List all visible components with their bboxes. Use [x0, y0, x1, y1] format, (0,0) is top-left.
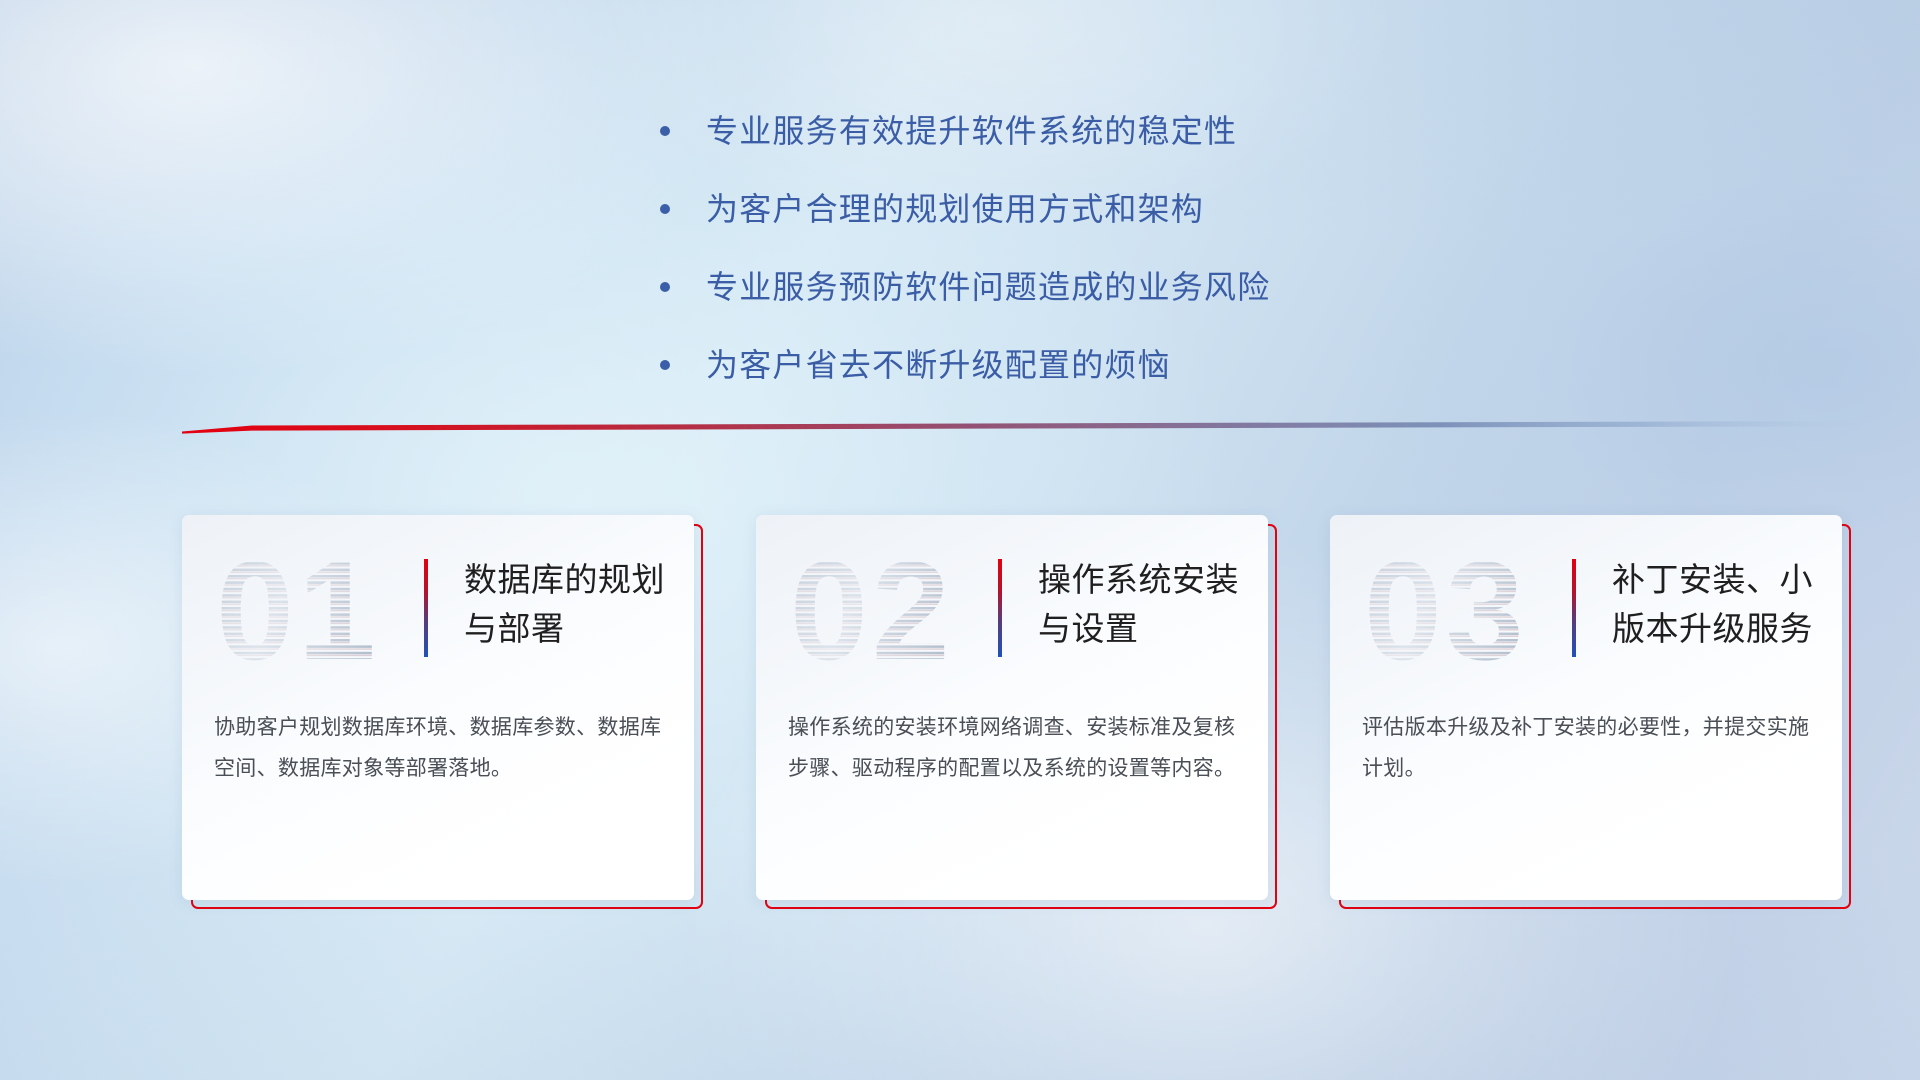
card-accent-rule	[1572, 559, 1576, 657]
list-item: 专业服务预防软件问题造成的业务风险	[660, 264, 1640, 310]
card-description: 评估版本升级及补丁安装的必要性，并提交实施计划。	[1362, 707, 1814, 789]
card-title: 操作系统安装与设置	[1038, 555, 1250, 653]
card-title: 补丁安装、小版本升级服务	[1612, 555, 1824, 653]
service-card[interactable]: 03 补丁安装、小版本升级服务 评估版本升级及补丁安装的必要性，并提交实施计划。	[1330, 515, 1842, 900]
bullet-dot-icon	[660, 204, 670, 214]
card-surface: 02 操作系统安装与设置 操作系统的安装环境网络调查、安装标准及复核步骤、驱动程…	[756, 515, 1268, 900]
card-surface: 03 补丁安装、小版本升级服务 评估版本升级及补丁安装的必要性，并提交实施计划。	[1330, 515, 1842, 900]
service-card[interactable]: 01 数据库的规划与部署 协助客户规划数据库环境、数据库参数、数据库空间、数据库…	[182, 515, 694, 900]
card-description: 操作系统的安装环境网络调查、安装标准及复核步骤、驱动程序的配置以及系统的设置等内…	[788, 707, 1240, 789]
card-accent-rule	[424, 559, 428, 657]
card-surface: 01 数据库的规划与部署 协助客户规划数据库环境、数据库参数、数据库空间、数据库…	[182, 515, 694, 900]
svg-text:01: 01	[216, 543, 380, 685]
list-item: 专业服务有效提升软件系统的稳定性	[660, 108, 1640, 154]
card-number-striped-icon: 03	[1362, 543, 1542, 685]
bullet-dot-icon	[660, 282, 670, 292]
bullet-dot-icon	[660, 360, 670, 370]
list-item: 为客户省去不断升级配置的烦恼	[660, 342, 1640, 388]
card-number-striped-icon: 02	[788, 543, 968, 685]
bullet-label: 为客户合理的规划使用方式和架构	[706, 186, 1204, 232]
benefits-bullet-list: 专业服务有效提升软件系统的稳定性 为客户合理的规划使用方式和架构 专业服务预防软…	[660, 108, 1640, 420]
slide-root: 专业服务有效提升软件系统的稳定性 为客户合理的规划使用方式和架构 专业服务预防软…	[0, 0, 1920, 1080]
card-accent-rule	[998, 559, 1002, 657]
service-card[interactable]: 02 操作系统安装与设置 操作系统的安装环境网络调查、安装标准及复核步骤、驱动程…	[756, 515, 1268, 900]
svg-text:02: 02	[790, 543, 954, 685]
svg-text:03: 03	[1364, 543, 1528, 685]
list-item: 为客户合理的规划使用方式和架构	[660, 186, 1640, 232]
bullet-label: 为客户省去不断升级配置的烦恼	[706, 342, 1171, 388]
card-description: 协助客户规划数据库环境、数据库参数、数据库空间、数据库对象等部署落地。	[214, 707, 666, 789]
card-number-striped-icon: 01	[214, 543, 394, 685]
service-card-list: 01 数据库的规划与部署 协助客户规划数据库环境、数据库参数、数据库空间、数据库…	[182, 515, 1842, 925]
card-title: 数据库的规划与部署	[464, 555, 676, 653]
section-divider	[182, 418, 1882, 436]
bullet-dot-icon	[660, 126, 670, 136]
bullet-label: 专业服务有效提升软件系统的稳定性	[706, 108, 1237, 154]
bullet-label: 专业服务预防软件问题造成的业务风险	[706, 264, 1270, 310]
